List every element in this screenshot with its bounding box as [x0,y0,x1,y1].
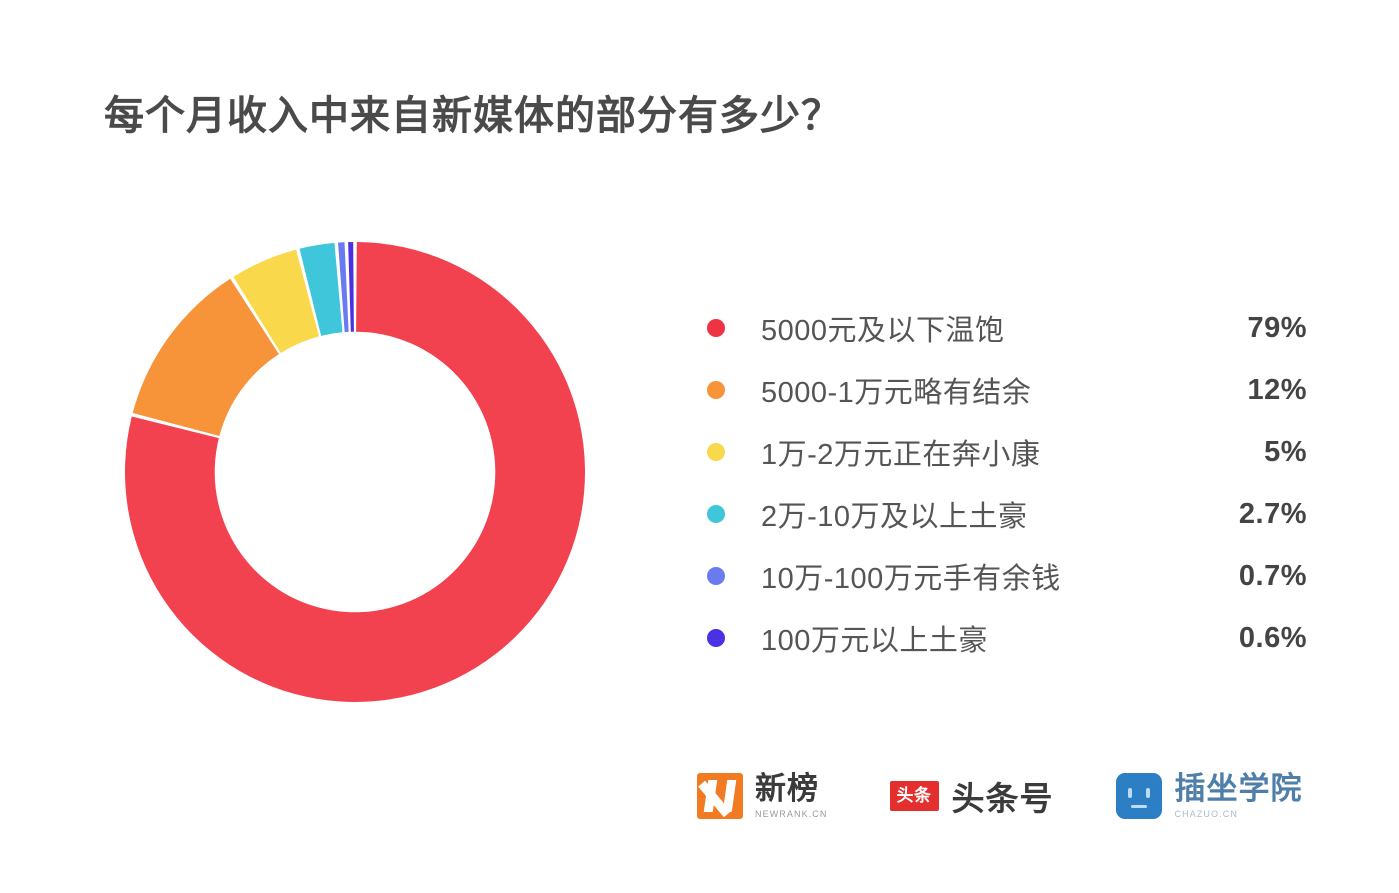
legend-value-1: 12% [1197,374,1307,407]
legend-value-4: 0.7% [1197,560,1307,593]
logo-newrank[interactable]: 新榜 NEWRANK.CN [697,773,828,819]
logo-chazuo[interactable]: 插坐学院 CHAZUO.CN [1116,773,1303,819]
legend-swatch-icon-5 [707,629,725,647]
donut-chart-svg [120,237,590,707]
logo-toutiaohao[interactable]: 头条 头条号 [890,772,1054,820]
legend-label-4: 10万-100万元手有余钱 [761,555,1197,597]
legend-item-5[interactable]: 100万元以上土豪 0.6% [707,607,1307,669]
legend-value-3: 2.7% [1197,498,1307,531]
chart-legend: 5000元及以下温饱 79% 5000-1万元略有结余 12% 1万-2万元正在… [707,297,1307,669]
page-title: 每个月收入中来自新媒体的部分有多少？ [104,83,842,141]
chazuo-name-en: CHAZUO.CN [1175,809,1303,819]
legend-item-3[interactable]: 2万-10万及以上土豪 2.7% [707,483,1307,545]
legend-swatch-icon-4 [707,567,725,585]
slide-root: 每个月收入中来自新媒体的部分有多少？ 5000元及以下温饱 79% 5000-1… [0,0,1399,893]
legend-label-2: 1万-2万元正在奔小康 [761,431,1197,473]
toutiaohao-name-cn: 头条号 [952,772,1054,820]
newrank-name-cn: 新榜 [755,773,828,806]
legend-value-5: 0.6% [1197,622,1307,655]
legend-swatch-icon-2 [707,443,725,461]
chazuo-mouth-icon [1131,805,1147,808]
legend-value-0: 79% [1197,312,1307,345]
legend-swatch-icon-3 [707,505,725,523]
legend-item-1[interactable]: 5000-1万元略有结余 12% [707,359,1307,421]
newrank-text: 新榜 NEWRANK.CN [755,773,828,819]
legend-swatch-icon-0 [707,319,725,337]
footer-logos: 新榜 NEWRANK.CN 头条 头条号 插坐学院 CHAZUO.CN [697,772,1303,820]
legend-label-5: 100万元以上土豪 [761,617,1197,659]
donut-slice-5[interactable] [348,242,354,332]
chazuo-mark-icon [1116,773,1162,819]
legend-item-0[interactable]: 5000元及以下温饱 79% [707,297,1307,359]
legend-label-0: 5000元及以下温饱 [761,307,1197,349]
newrank-diagonal-icon [698,781,731,817]
chazuo-name-cn: 插坐学院 [1175,773,1303,806]
chazuo-eye-left-icon [1128,788,1132,798]
donut-slices [125,242,585,702]
legend-label-3: 2万-10万及以上土豪 [761,493,1197,535]
legend-value-2: 5% [1197,436,1307,469]
newrank-name-en: NEWRANK.CN [755,809,828,819]
donut-chart [120,237,590,707]
toutiao-badge-icon: 头条 [890,781,939,811]
legend-label-1: 5000-1万元略有结余 [761,369,1197,411]
chazuo-eye-right-icon [1146,788,1150,798]
chazuo-text: 插坐学院 CHAZUO.CN [1175,773,1303,819]
legend-item-4[interactable]: 10万-100万元手有余钱 0.7% [707,545,1307,607]
legend-swatch-icon-1 [707,381,725,399]
newrank-mark-icon [697,773,743,819]
legend-item-2[interactable]: 1万-2万元正在奔小康 5% [707,421,1307,483]
